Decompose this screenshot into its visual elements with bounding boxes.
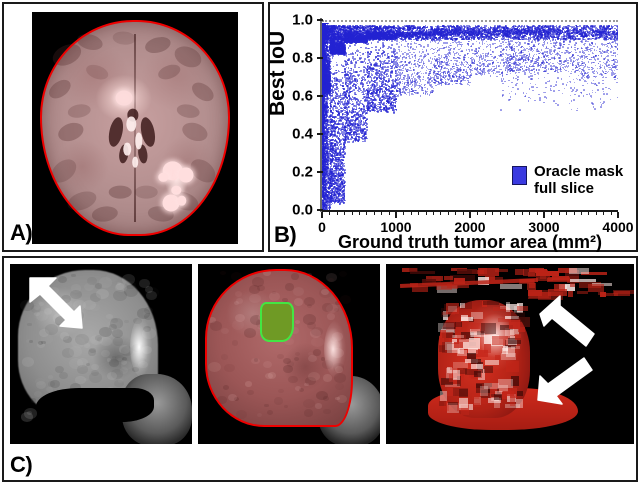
scatter-point xyxy=(329,78,331,80)
scatter-point xyxy=(335,188,337,190)
scatter-point xyxy=(339,135,341,137)
scatter-point xyxy=(336,46,338,48)
scatter-point xyxy=(337,201,339,203)
scatter-point xyxy=(334,201,336,203)
scatter-point xyxy=(332,155,334,157)
scatter-point xyxy=(329,207,331,209)
scatter-point xyxy=(331,174,333,176)
scatter-point xyxy=(330,186,332,188)
scatter-point xyxy=(343,197,345,199)
scatter-point xyxy=(344,195,346,197)
scatter-point xyxy=(330,105,332,107)
scatter-point xyxy=(339,195,341,197)
scatter-point xyxy=(334,78,336,80)
scatter-point xyxy=(331,119,333,121)
scatter-point xyxy=(335,80,337,82)
scatter-point xyxy=(336,83,338,85)
scatter-point xyxy=(342,184,344,186)
scatter-point xyxy=(338,40,340,42)
scatter-point xyxy=(339,175,341,177)
scatter-point xyxy=(336,72,338,74)
panel-a-mri-image xyxy=(32,12,238,244)
scatter-point xyxy=(330,52,332,54)
scatter-point xyxy=(332,98,334,100)
scatter-point xyxy=(344,165,346,167)
scatter-point xyxy=(330,153,332,155)
scatter-point xyxy=(340,146,342,148)
scatter-point xyxy=(331,68,333,70)
scatter-point xyxy=(329,199,331,201)
scatter-point xyxy=(339,96,341,98)
scatter-point xyxy=(332,81,334,83)
scatter-point xyxy=(336,179,338,181)
scatter-point xyxy=(328,73,330,75)
scatter-point xyxy=(331,168,333,170)
scatter-point xyxy=(330,61,332,63)
reference-line-iou-1 xyxy=(322,20,618,22)
scatter-point xyxy=(343,88,345,90)
scatter-point xyxy=(342,82,344,84)
scatter-point xyxy=(344,172,346,174)
scatter-point xyxy=(341,155,343,157)
scatter-point xyxy=(329,94,331,96)
scatter-point xyxy=(338,158,340,160)
scatter-point xyxy=(334,156,336,158)
scatter-point xyxy=(339,189,341,191)
scatter-point xyxy=(332,190,334,192)
scatter-point xyxy=(343,193,345,195)
scatter-point xyxy=(342,151,344,153)
scatter-point xyxy=(332,147,334,149)
scatter-point xyxy=(339,82,341,84)
scatter-point xyxy=(362,94,364,96)
scatter-point xyxy=(342,85,344,87)
scatter-point xyxy=(334,101,336,103)
scatter-point xyxy=(340,168,342,170)
scatter-point xyxy=(333,84,335,86)
scatter-point xyxy=(338,88,340,90)
scatter-point xyxy=(333,51,335,53)
scatter-point xyxy=(343,202,345,204)
scatter-point xyxy=(338,198,340,200)
scatter-point xyxy=(342,177,344,179)
scatter-point xyxy=(327,195,329,197)
scatter-point xyxy=(341,72,343,74)
scatter-point xyxy=(335,42,337,44)
scatter-point xyxy=(341,129,343,131)
scatter-point xyxy=(338,90,340,92)
scatter-point xyxy=(340,44,342,46)
scatter-point xyxy=(331,54,333,56)
scatter-point xyxy=(336,167,338,169)
scatter-point xyxy=(341,162,343,164)
scatter-point xyxy=(333,183,335,185)
scatter-point xyxy=(328,71,330,73)
scatter-point xyxy=(340,50,342,52)
scatter-point xyxy=(336,62,338,64)
scatter-point xyxy=(342,117,344,119)
scatter-point xyxy=(339,170,341,172)
scatter-point xyxy=(339,183,341,185)
scatter-point xyxy=(331,165,333,167)
scatter-point xyxy=(332,180,334,182)
scatter-point xyxy=(337,190,339,192)
brain-mask-contour xyxy=(40,20,230,236)
scatter-point xyxy=(344,147,346,149)
scatter-point xyxy=(342,191,344,193)
scatter-point xyxy=(337,102,339,104)
scatter-point xyxy=(332,73,334,75)
scatter-point xyxy=(338,97,340,99)
scatter-point xyxy=(339,141,341,143)
scatter-point xyxy=(334,145,336,147)
scatter-point xyxy=(339,79,341,81)
scatter-point xyxy=(344,154,346,156)
scatter-point xyxy=(340,99,342,101)
scatter-point xyxy=(364,140,366,142)
panel-b: 0.00.20.40.60.81.0 01000200030004000 Bes… xyxy=(268,2,638,252)
scatter-point xyxy=(348,47,350,49)
scatter-point xyxy=(329,55,331,57)
scatter-point xyxy=(334,117,336,119)
scatter-point xyxy=(338,123,340,125)
scatter-point xyxy=(337,147,339,149)
scatter-point xyxy=(336,64,338,66)
scatter-point xyxy=(338,130,340,132)
scatter-point xyxy=(330,149,332,151)
scatter-point xyxy=(343,186,345,188)
scatter-point xyxy=(338,138,340,140)
scatter-point xyxy=(339,114,341,116)
scatter-point xyxy=(332,139,334,141)
scatter-point xyxy=(330,144,332,146)
scatter-point xyxy=(335,198,337,200)
scatter-point xyxy=(334,143,336,145)
scatter-point xyxy=(343,180,345,182)
scatter-point xyxy=(334,88,336,90)
scatter-point xyxy=(335,106,337,108)
scatter-point xyxy=(339,203,341,205)
scatter-point xyxy=(333,66,335,68)
scatter-point xyxy=(342,159,344,161)
scatter-point xyxy=(341,131,343,133)
scatter-point xyxy=(339,200,341,202)
scatter-point xyxy=(335,92,337,94)
scatter-point xyxy=(342,113,344,115)
scatter-point xyxy=(329,42,331,44)
scatter-point xyxy=(339,105,341,107)
scatter-point xyxy=(333,166,335,168)
scatter-point xyxy=(332,57,334,59)
scatter-point xyxy=(343,156,345,158)
scatter-point xyxy=(332,91,334,93)
scatter-point xyxy=(333,106,335,108)
scatter-point xyxy=(340,144,342,146)
panel-a-letter: A) xyxy=(10,220,32,246)
scatter-point xyxy=(342,200,344,202)
scatter-point xyxy=(339,120,341,122)
scatter-point xyxy=(340,107,342,109)
scatter-point xyxy=(340,119,342,121)
scatter-point xyxy=(335,175,337,177)
figure-root: A) 0.00.20.40.60.81.0 01000200030004000 … xyxy=(0,0,640,484)
scatter-point xyxy=(344,177,346,179)
panel-a: A) xyxy=(2,2,264,252)
scatter-point xyxy=(328,68,330,70)
